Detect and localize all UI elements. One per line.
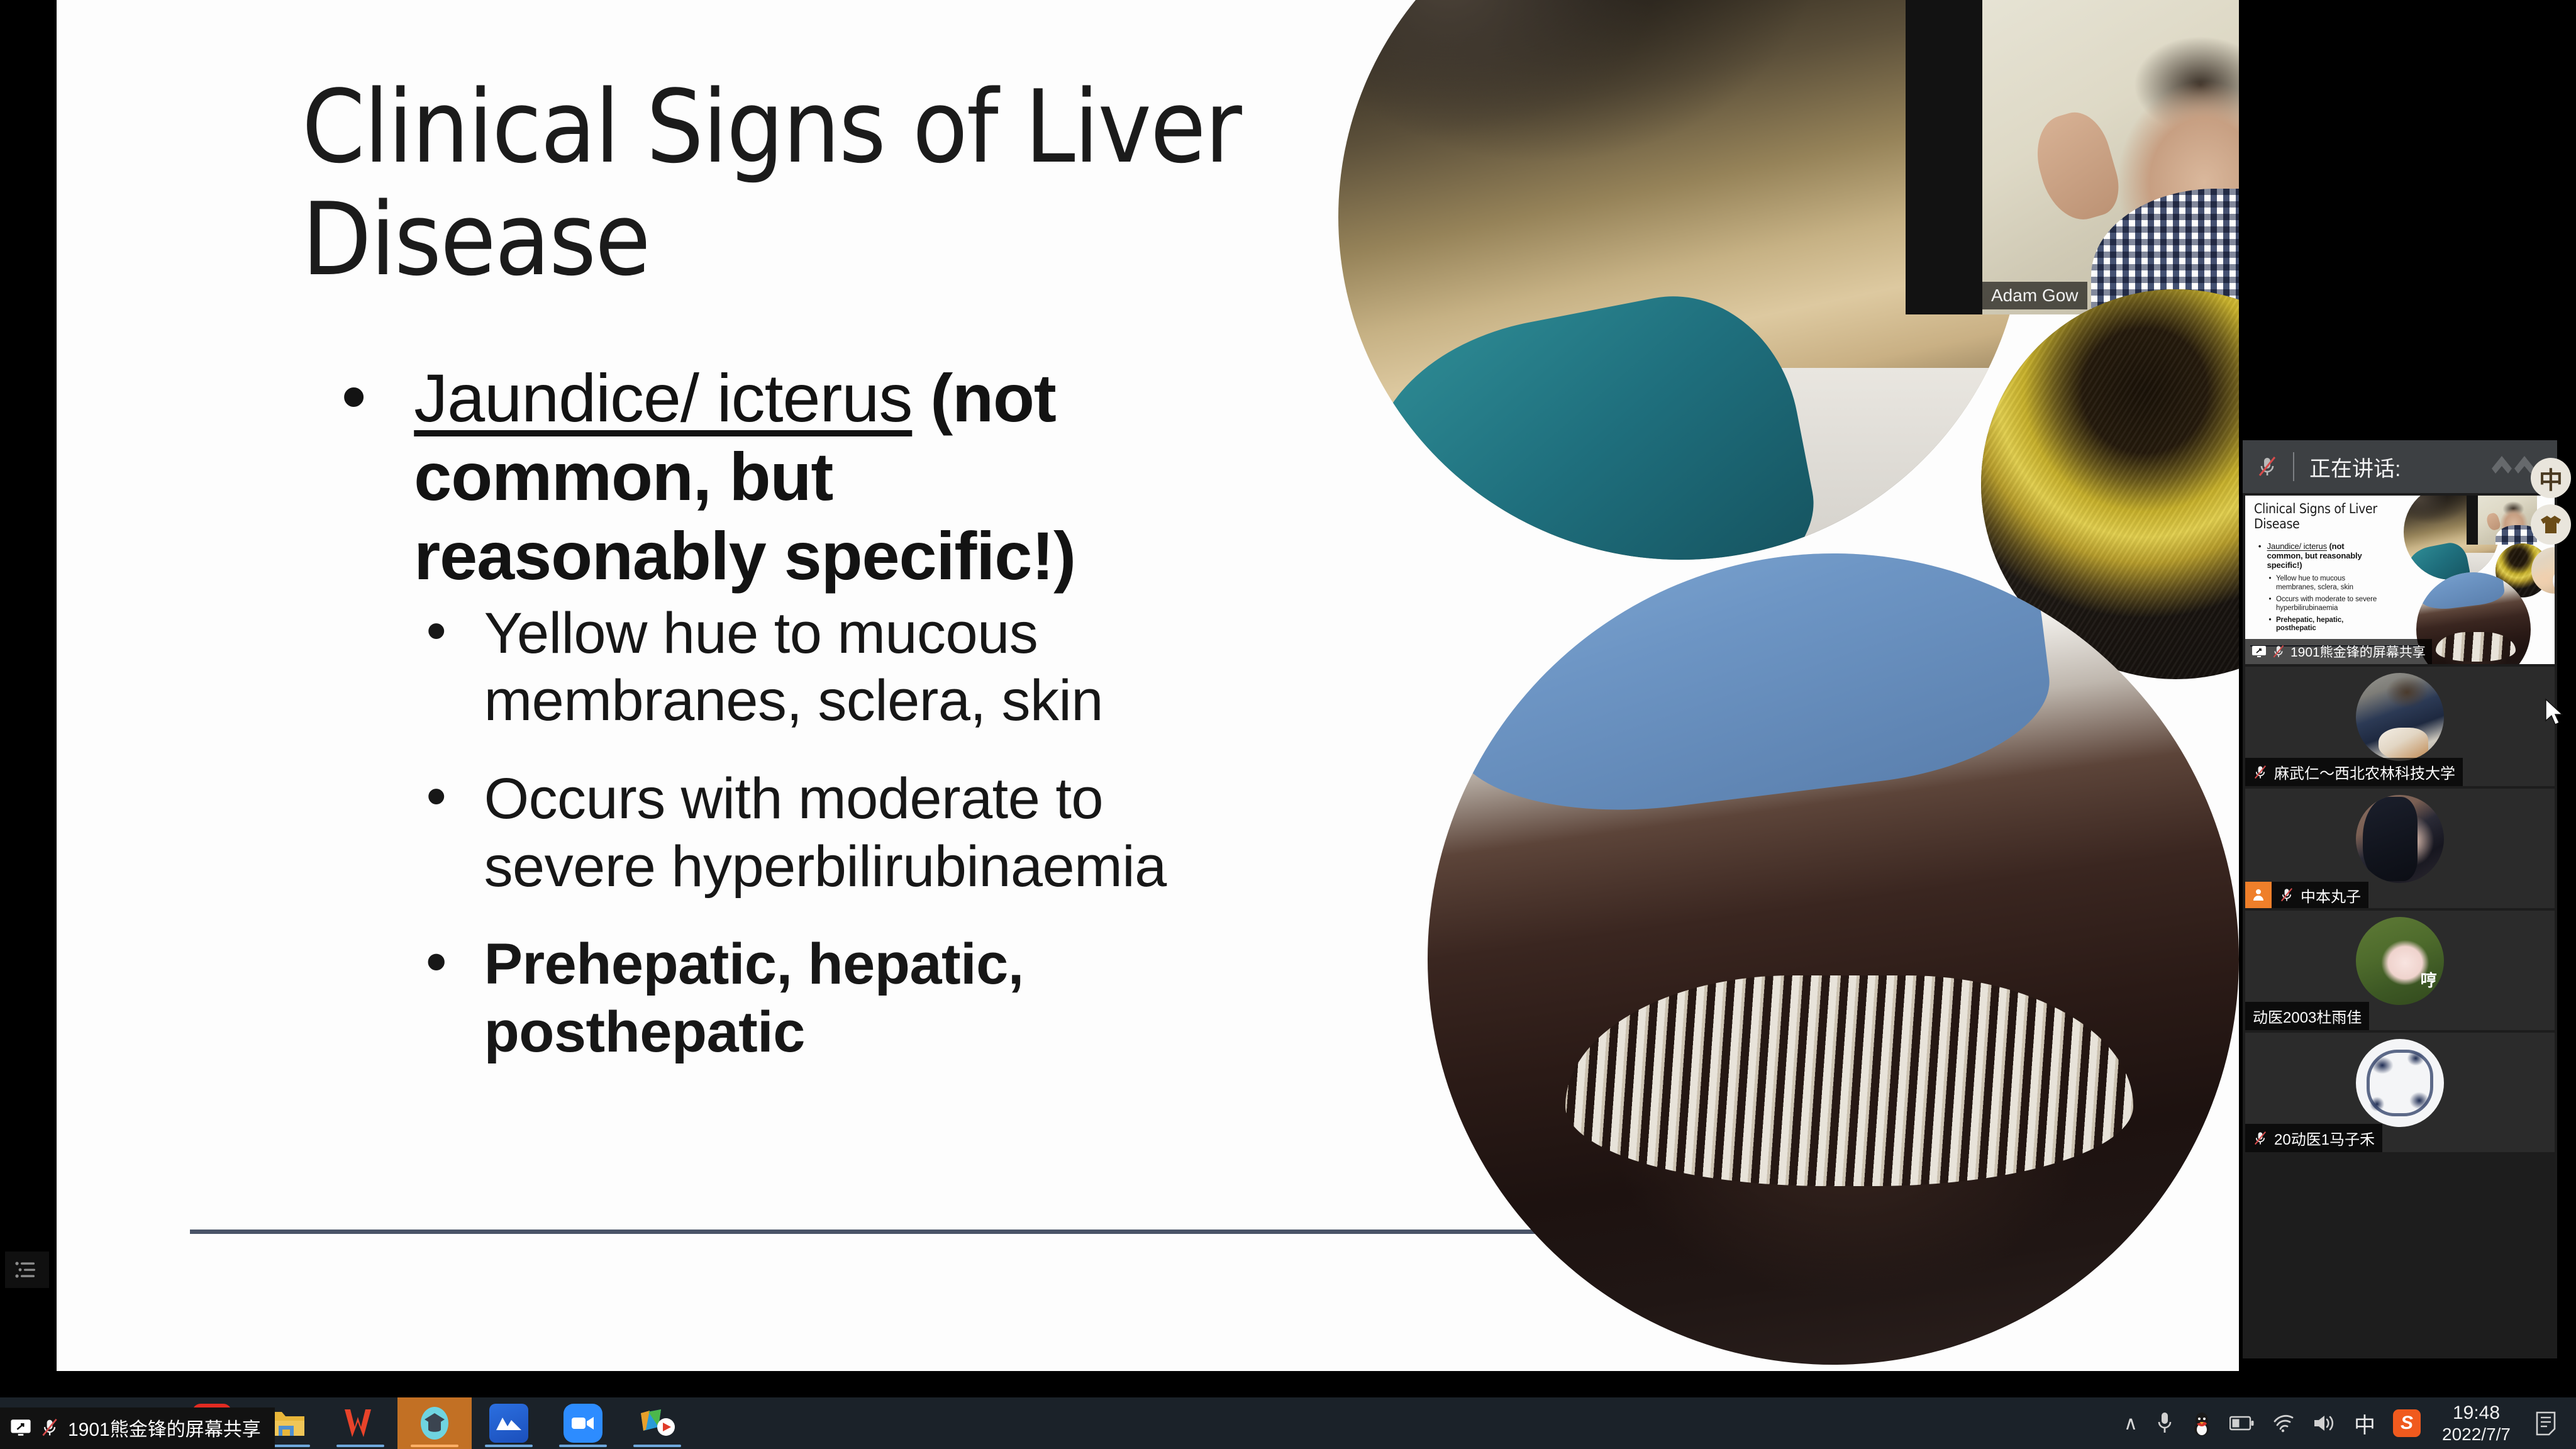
participant-1-avatar: [2356, 673, 2444, 761]
thumbnail-sub-3: Prehepatic, hepatic, posthepatic: [2267, 616, 2380, 633]
share-banner-mic-muted-icon: [40, 1417, 59, 1438]
host-person-icon: [2245, 882, 2272, 908]
thumbnail-bullets: Jaundice/ icterus (not common, but reaso…: [2257, 541, 2380, 633]
participant-2-mic-muted-icon: [2279, 887, 2294, 903]
screen-share-icon: [10, 1418, 31, 1437]
participant-card-2[interactable]: 中本丸子: [2245, 789, 2555, 908]
thumbnail-label-text: 1901熊金锋的屏幕共享: [2290, 642, 2426, 661]
wifi-icon[interactable]: [2263, 1397, 2304, 1449]
slide-title: Clinical Signs of Liver Disease: [302, 70, 1283, 296]
thumbnail-slide-title: Clinical Signs of Liver Disease: [2254, 502, 2386, 531]
system-tray: ∧ 中 S: [2115, 1397, 2576, 1449]
participant-3-avatar: 哼: [2356, 917, 2444, 1005]
participant-4-name: 20动医1马子禾: [2274, 1127, 2375, 1149]
ime-chinese-glyph: 中: [2354, 1408, 2375, 1439]
thumbnail-sub-2: Occurs with moderate to severe hyperbili…: [2267, 596, 2380, 613]
participant-4-mic-muted-icon: [2253, 1130, 2268, 1146]
participant-1-label: 麻武仁～西北农林科技大学: [2245, 758, 2463, 786]
participant-card-4[interactable]: 20动医1马子禾: [2245, 1033, 2555, 1152]
sogou-input-icon[interactable]: S: [2384, 1397, 2429, 1449]
panel-header: 正在讲话:: [2243, 440, 2557, 493]
outline-panel-icon[interactable]: [5, 1252, 49, 1288]
sogou-glyph: S: [2401, 1413, 2413, 1434]
taskbar-app-wps-office[interactable]: [323, 1397, 397, 1449]
battery-icon[interactable]: [2221, 1397, 2263, 1449]
skin-theme-float-button[interactable]: [2531, 504, 2571, 545]
sub-bullet-2: Occurs with moderate to severe hyperbili…: [409, 765, 1176, 901]
participant-card-1[interactable]: 麻武仁～西北农林科技大学: [2245, 667, 2555, 786]
desktop-screen: Clinical Signs of Liver Disease Jaundice…: [0, 0, 2576, 1449]
slide-photo-mouth: [1428, 553, 2239, 1365]
ime-chinese-icon[interactable]: 中: [2345, 1397, 2384, 1449]
screen-share-icon: [2251, 645, 2267, 658]
participant-3-label: 动医2003杜雨佳: [2245, 1002, 2369, 1030]
shared-slide: Clinical Signs of Liver Disease Jaundice…: [57, 0, 2239, 1371]
thumbnail-subbullets: Yellow hue to mucous membranes, sclera, …: [2257, 575, 2380, 633]
taskbar-app-mountain-app[interactable]: [472, 1397, 546, 1449]
thumbnail-sub-1: Yellow hue to mucous membranes, sclera, …: [2267, 575, 2380, 592]
action-center-icon[interactable]: [2523, 1397, 2576, 1449]
screen-share-banner[interactable]: 1901熊金锋的屏幕共享: [0, 1407, 275, 1449]
thumbnail-label: 1901熊金锋的屏幕共享: [2245, 639, 2432, 664]
slide-bullet-list: Jaundice/ icterus (not common, but reaso…: [327, 358, 1176, 1066]
taskbar-clock[interactable]: 19:48 2022/7/7: [2429, 1402, 2523, 1445]
participant-4-avatar: [2356, 1039, 2444, 1127]
chevron-up-glyph: ∧: [2124, 1413, 2138, 1435]
participant-1-name: 麻武仁～西北农林科技大学: [2274, 761, 2455, 783]
sub-bullet-3: Prehepatic, hepatic, posthepatic: [409, 931, 1176, 1066]
slide-subbullet-list: Yellow hue to mucous membranes, sclera, …: [327, 600, 1176, 1066]
microphone-icon[interactable]: [2146, 1397, 2183, 1449]
clock-date: 2022/7/7: [2442, 1424, 2511, 1445]
clock-time: 19:48: [2442, 1402, 2511, 1424]
volume-icon[interactable]: [2304, 1397, 2345, 1449]
ime-chinese-float-glyph: 中: [2539, 461, 2563, 496]
participant-2-name: 中本丸子: [2301, 884, 2361, 906]
participant-card-3[interactable]: 哼 动医2003杜雨佳: [2245, 911, 2555, 1030]
participant-4-label: 20动医1马子禾: [2245, 1124, 2382, 1152]
participant-3-name: 动医2003杜雨佳: [2253, 1005, 2362, 1027]
thumbnail-bullet-primary: Jaundice/ icterus (not common, but reaso…: [2257, 541, 2380, 570]
ime-chinese-float-button[interactable]: 中: [2531, 458, 2571, 498]
participant-3-avatar-text: 哼: [2421, 968, 2437, 991]
taskbar-app-zoom-meeting[interactable]: [546, 1397, 620, 1449]
panel-header-title: 正在讲话:: [2309, 452, 2401, 482]
presenter-video-tile: Adam Gow: [1906, 0, 2239, 314]
thumbnail-bullet-underlined: Jaundice/ icterus: [2267, 541, 2327, 551]
thumbnail-presenter-tile: [2467, 496, 2537, 545]
participant-2-avatar: [2356, 795, 2444, 883]
mic-muted-icon: [2257, 455, 2278, 479]
taskbar-app-learning-app[interactable]: [397, 1397, 472, 1449]
thumbnail-mic-muted-icon: [2272, 644, 2285, 659]
participant-2-label: 中本丸子: [2245, 882, 2368, 908]
share-banner-label: 1901熊金锋的屏幕共享: [68, 1414, 261, 1441]
participant-1-mic-muted-icon: [2253, 764, 2268, 780]
outline-icon-glyph: [14, 1260, 40, 1279]
header-divider: [2293, 452, 2294, 481]
participants-panel: 正在讲话: Clinical Signs of Liver Disease Ja…: [2243, 440, 2557, 1358]
show-hidden-icons-chevron[interactable]: ∧: [2115, 1397, 2146, 1449]
bullet-primary-underlined: Jaundice/ icterus: [414, 360, 912, 436]
sub-bullet-1: Yellow hue to mucous membranes, sclera, …: [409, 600, 1176, 735]
taskbar-app-media-player[interactable]: [620, 1397, 694, 1449]
shirt-icon: [2540, 514, 2562, 535]
penguin-icon[interactable]: [2183, 1397, 2221, 1449]
windows-taskbar: 有道: [0, 1397, 2576, 1449]
shared-screen-thumbnail-card[interactable]: Clinical Signs of Liver Disease Jaundice…: [2245, 496, 2555, 664]
slide-divider-rule: [190, 1230, 1611, 1234]
bullet-primary: Jaundice/ icterus (not common, but reaso…: [327, 358, 1176, 595]
